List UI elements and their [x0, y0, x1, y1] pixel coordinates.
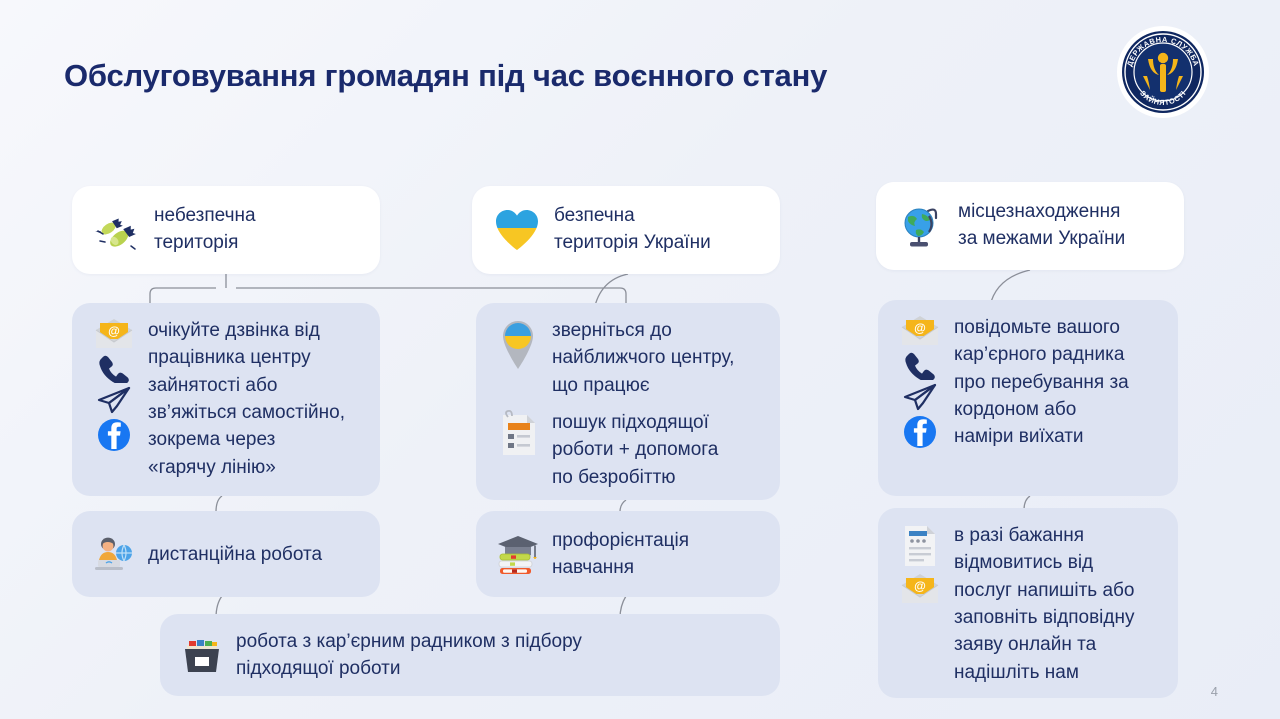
text-line: очікуйте дзвінка від: [148, 317, 364, 344]
text-line: послуг напишіть або: [954, 577, 1162, 604]
text-line: підходящої роботи: [236, 655, 764, 682]
email-at-icon: @: [899, 314, 941, 348]
logo-emblem: ДЕРЖАВНА СЛУЖБА ЗАЙНЯТОСТІ: [1119, 28, 1207, 116]
text-line: зайнятості або: [148, 372, 364, 399]
text-line: робота з кар’єрним радником з підбору: [236, 628, 764, 655]
bomb-icon: [90, 208, 144, 252]
block-refuse-services-text: в разі бажання відмовитись від послуг на…: [954, 522, 1162, 686]
document-icon: [899, 522, 941, 570]
card-dangerous-territory-label: небезпечна територія: [154, 203, 256, 257]
text-line: пошук підходящої: [552, 409, 764, 436]
block-notify-advisor-text: повідомьте вашого кар’єрного радника про…: [954, 314, 1162, 451]
text-line: територія: [154, 230, 256, 257]
facebook-icon: [96, 417, 132, 453]
text-line: відмовитись від: [954, 549, 1162, 576]
block-career-guidance[interactable]: профорієнтація навчання: [476, 511, 780, 597]
facebook-icon: [902, 414, 938, 450]
page-number: 4: [1211, 684, 1218, 699]
text-line: в разі бажання: [954, 522, 1162, 549]
state-employment-service-logo: ДЕРЖАВНА СЛУЖБА ЗАЙНЯТОСТІ: [1117, 26, 1209, 118]
telegram-plane-icon: [902, 382, 938, 412]
text-line: «гарячу лінію»: [148, 454, 364, 481]
text-line: місцезнаходження: [958, 199, 1125, 226]
text-line: наміри виїхати: [954, 423, 1162, 450]
block-await-call[interactable]: @ очікуйте дзвінка від працівника центру: [72, 303, 380, 496]
ukraine-map-pin-icon-group: [492, 317, 544, 373]
block-career-advisor[interactable]: робота з кар’єрним радником з підбору пі…: [160, 614, 780, 696]
block-job-search-text: пошук підходящої роботи + допомога по бе…: [552, 409, 764, 491]
block-row: пошук підходящої роботи + допомога по бе…: [492, 409, 764, 491]
text-line: повідомьте вашого: [954, 314, 1162, 341]
block-row: дистанційна робота: [88, 534, 364, 574]
telegram-plane-icon: [96, 385, 132, 415]
text-line: за межами України: [958, 226, 1125, 253]
text-line: зверніться до: [552, 317, 764, 344]
text-line: територія України: [554, 230, 711, 257]
block-row: профорієнтація навчання: [492, 527, 764, 582]
block-visit-center[interactable]: зверніться до найближчого центру, що пра…: [476, 303, 780, 500]
contact-icons-group: @: [88, 317, 140, 453]
block-row: @ очікуйте дзвінка від працівника центру: [88, 317, 364, 481]
text-line: що працює: [552, 372, 764, 399]
card-abroad-location[interactable]: місцезнаходження за межами України: [876, 182, 1184, 270]
block-remote-work-text: дистанційна робота: [148, 539, 364, 568]
svg-text:@: @: [914, 579, 926, 593]
card-index-box-icon-group: [176, 634, 228, 676]
text-line: по безробіттю: [552, 464, 764, 491]
text-line: кордоном або: [954, 396, 1162, 423]
block-row: зверніться до найближчого центру, що пра…: [492, 317, 764, 399]
block-row: робота з кар’єрним радником з підбору пі…: [176, 628, 764, 683]
remote-worker-icon: [92, 534, 136, 574]
card-safe-territory[interactable]: безпечна територія України: [472, 186, 780, 274]
block-visit-center-text: зверніться до найближчого центру, що пра…: [552, 317, 764, 399]
block-notify-advisor[interactable]: @ повідомьте вашого кар’єрного радника п…: [878, 300, 1178, 496]
text-line: зв’яжіться самостійно,: [148, 399, 364, 426]
phone-icon: [903, 350, 937, 380]
text-line: навчання: [552, 554, 764, 581]
text-line: небезпечна: [154, 203, 256, 230]
block-career-advisor-text: робота з кар’єрним радником з підбору пі…: [236, 628, 764, 683]
document-search-icon-group: [492, 409, 544, 459]
ukraine-flag-heart-icon: [490, 207, 544, 253]
text-line: зокрема через: [148, 426, 364, 453]
text-line: дистанційна робота: [148, 541, 364, 568]
svg-text:@: @: [108, 324, 120, 338]
email-at-icon: @: [899, 572, 941, 606]
text-line: надішліть нам: [954, 659, 1162, 686]
text-line: безпечна: [554, 203, 711, 230]
svg-text:@: @: [914, 321, 926, 335]
block-row: @ в разі бажання відмовитись від послуг …: [894, 522, 1162, 686]
card-dangerous-territory[interactable]: небезпечна територія: [72, 186, 380, 274]
phone-icon: [97, 353, 131, 383]
card-safe-territory-label: безпечна територія України: [554, 203, 711, 257]
text-line: заповніть відповідну: [954, 604, 1162, 631]
graduation-books-icon: [495, 532, 541, 576]
email-at-icon: @: [93, 317, 135, 351]
card-index-box-icon: [179, 634, 225, 676]
text-line: про перебування за: [954, 369, 1162, 396]
block-await-call-text: очікуйте дзвінка від працівника центру з…: [148, 317, 364, 481]
text-line: кар’єрного радника: [954, 341, 1162, 368]
text-line: найближчого центру,: [552, 344, 764, 371]
page-title: Обслуговування громадян під час воєнного…: [64, 58, 827, 94]
graduation-books-icon-group: [492, 532, 544, 576]
ukraine-map-pin-icon: [497, 317, 539, 373]
block-row: @ повідомьте вашого кар’єрного радника п…: [894, 314, 1162, 451]
card-abroad-location-label: місцезнаходження за межами України: [958, 199, 1125, 253]
block-remote-work[interactable]: дистанційна робота: [72, 511, 380, 597]
text-line: працівника центру: [148, 344, 364, 371]
text-line: заяву онлайн та: [954, 631, 1162, 658]
remote-worker-icon-group: [88, 534, 140, 574]
connector-col1-b1-b2: [216, 496, 222, 512]
contact-icons-group: @: [894, 314, 946, 450]
text-line: профорієнтація: [552, 527, 764, 554]
block-refuse-services[interactable]: @ в разі бажання відмовитись від послуг …: [878, 508, 1178, 698]
refuse-icons-group: @: [894, 522, 946, 606]
document-search-icon: [496, 409, 540, 459]
block-career-guidance-text: профорієнтація навчання: [552, 527, 764, 582]
globe-icon: [894, 202, 948, 250]
text-line: роботи + допомога: [552, 436, 764, 463]
